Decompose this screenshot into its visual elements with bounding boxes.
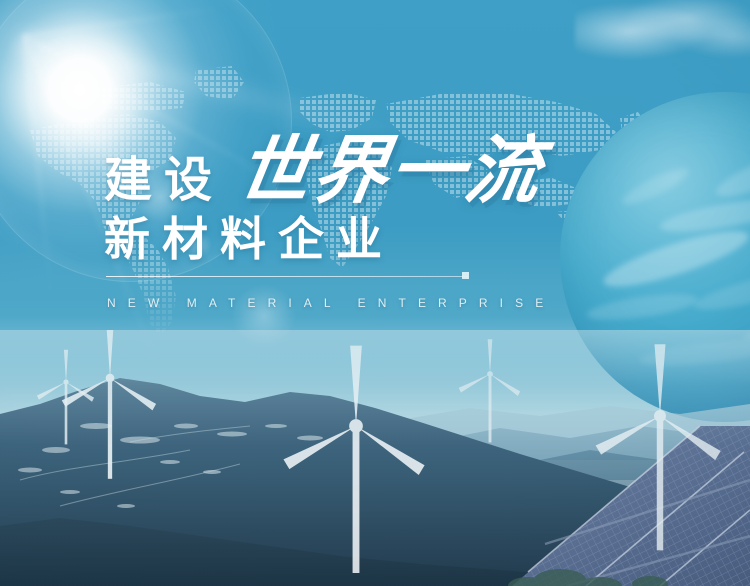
mountain-range bbox=[0, 330, 750, 586]
subtitle-text: NEW MATERIAL ENTERPRISE bbox=[107, 296, 555, 310]
cloud-wisp bbox=[575, 0, 750, 65]
hero-banner: 建设 世界一流 新材料企业 NEW MATERIAL ENTERPRISE bbox=[0, 0, 750, 586]
divider-line bbox=[106, 276, 468, 277]
divider-end-marker bbox=[462, 272, 469, 279]
lens-flare bbox=[186, 232, 212, 258]
lens-flare bbox=[136, 172, 186, 222]
